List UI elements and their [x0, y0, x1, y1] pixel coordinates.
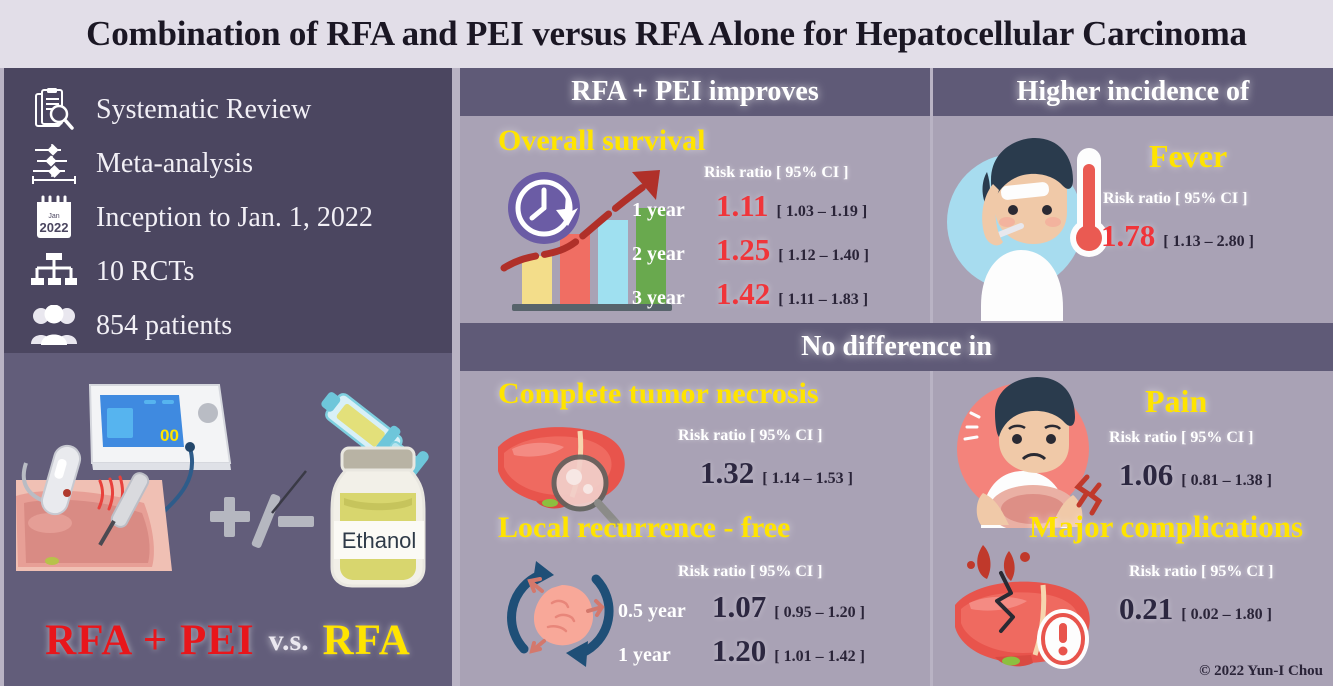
infographic-poster: Combination of RFA and PEI versus RFA Al…	[0, 0, 1333, 686]
row-label: 3 year	[632, 287, 708, 310]
treatment-illustration-panel: 00	[4, 353, 452, 686]
result-row: 1.06 [ 0.81 – 1.38 ]	[1119, 457, 1272, 493]
fact-row-meta-analysis: Meta-analysis	[26, 138, 452, 190]
fever-heading: Fever	[1149, 138, 1227, 175]
row-label: 2 year	[632, 243, 708, 266]
fact-row-search-period: Jan 2022 Inception to Jan. 1, 2022	[26, 192, 452, 244]
vial-label-text: Ethanol	[342, 528, 417, 553]
row-value: 1.06	[1119, 457, 1173, 493]
band-rfa-pei-improves: RFA + PEI improves	[460, 68, 930, 116]
row-ci: [ 0.02 – 1.80 ]	[1181, 606, 1272, 624]
row-value: 1.11	[716, 188, 769, 224]
bleeding-liver-icon	[943, 539, 1103, 684]
comparison-caption: RFA + PEI v.s. RFA	[4, 603, 452, 678]
plus-minus-symbol	[210, 493, 314, 549]
comparison-treatment-label: RFA + PEI	[45, 616, 255, 665]
recurrence-cycle-icon	[496, 553, 626, 683]
row-ci: [ 1.11 – 1.83 ]	[778, 291, 868, 309]
study-facts-panel: Systematic Review	[4, 68, 452, 353]
forest-plot-icon	[26, 140, 82, 188]
band-label: Higher incidence of	[933, 76, 1333, 108]
people-icon	[26, 302, 82, 350]
row-value: 1.32	[700, 455, 754, 491]
calendar-month-text: Jan	[48, 213, 59, 220]
rr-header: Risk ratio [ 95% CI ]	[678, 427, 822, 445]
row-value: 1.78	[1101, 218, 1155, 254]
result-row: 2 year 1.25 [ 1.12 – 1.40 ]	[632, 232, 869, 268]
pain-heading: Pain	[1145, 383, 1207, 420]
row-value: 1.20	[712, 633, 766, 669]
left-column: Systematic Review	[0, 68, 456, 686]
band-higher-incidence: Higher incidence of	[930, 68, 1333, 116]
ethanol-vial-icon: Ethanol	[332, 448, 424, 586]
calendar-icon: Jan 2022	[26, 194, 82, 242]
local-recurrence-free-heading: Local recurrence - free	[498, 511, 790, 545]
fact-row-patients: 854 patients	[26, 300, 452, 352]
right-column: RFA + PEI improves Higher incidence of O…	[460, 68, 1333, 686]
overall-survival-panel: Overall survival	[460, 116, 930, 323]
no-difference-left-column: Complete tumor necrosis	[460, 371, 930, 686]
fact-label: 10 RCTs	[96, 256, 194, 288]
row-ci: [ 1.12 – 1.40 ]	[778, 247, 869, 265]
result-row: 1.78 [ 1.13 – 2.80 ]	[1101, 218, 1254, 254]
clipboard-search-icon	[26, 86, 82, 134]
row-ci: [ 1.13 – 2.80 ]	[1163, 233, 1254, 251]
row-value: 1.07	[712, 589, 766, 625]
comparison-versus-label: v.s.	[269, 624, 309, 658]
overall-survival-heading: Overall survival	[498, 124, 705, 158]
fact-label: Meta-analysis	[96, 148, 253, 180]
result-row: 1 year 1.20 [ 1.01 – 1.42 ]	[618, 633, 865, 669]
row-ci: [ 0.95 – 1.20 ]	[774, 604, 865, 622]
rr-header: Risk ratio [ 95% CI ]	[678, 563, 822, 581]
fact-label: Inception to Jan. 1, 2022	[96, 202, 373, 234]
blood-splash-icon	[967, 545, 1030, 581]
top-section-body: Overall survival	[460, 116, 1333, 323]
fact-row-rcts: 10 RCTs	[26, 246, 452, 298]
calendar-year-text: 2022	[40, 220, 69, 235]
no-difference-right-column: Pain Risk ratio [ 95% CI ] 1.06 [ 0.81 –…	[930, 371, 1333, 686]
row-value: 1.25	[716, 232, 770, 268]
fever-panel: Fever Risk ratio [ 95% CI ] 1.78 [ 1.13 …	[930, 116, 1333, 323]
result-row: 0.21 [ 0.02 – 1.80 ]	[1119, 591, 1272, 627]
row-label: 0.5 year	[618, 600, 704, 623]
rr-header: Risk ratio [ 95% CI ]	[704, 164, 848, 182]
result-row: 3 year 1.42 [ 1.11 – 1.83 ]	[632, 276, 868, 312]
top-band-row: RFA + PEI improves Higher incidence of	[460, 68, 1333, 116]
result-row: 1 year 1.11 [ 1.03 – 1.19 ]	[632, 188, 867, 224]
copyright-text: © 2022 Yun-I Chou	[1199, 663, 1323, 680]
no-difference-section-body: Complete tumor necrosis	[460, 371, 1333, 686]
rfa-generator-icon: 00	[90, 385, 231, 470]
fact-row-systematic-review: Systematic Review	[26, 84, 452, 136]
row-ci: [ 1.03 – 1.19 ]	[777, 203, 868, 221]
rfa-pei-illustration: 00	[4, 353, 452, 603]
band-no-difference: No difference in	[460, 323, 1333, 371]
poster-title-bar: Combination of RFA and PEI versus RFA Al…	[0, 0, 1333, 68]
row-ci: [ 1.01 – 1.42 ]	[774, 648, 865, 666]
comparison-control-label: RFA	[323, 616, 411, 665]
band-label: RFA + PEI improves	[460, 76, 930, 108]
row-value: 1.42	[716, 276, 770, 312]
band-label: No difference in	[460, 331, 1333, 363]
fever-patient-icon	[943, 126, 1113, 326]
page-title: Combination of RFA and PEI versus RFA Al…	[86, 14, 1247, 54]
result-row: 0.5 year 1.07 [ 0.95 – 1.20 ]	[618, 589, 865, 625]
rr-header: Risk ratio [ 95% CI ]	[1103, 190, 1247, 208]
row-ci: [ 1.14 – 1.53 ]	[762, 470, 853, 488]
hierarchy-icon	[26, 248, 82, 296]
fact-label: 854 patients	[96, 310, 232, 342]
liver-probe-icon	[16, 480, 172, 571]
generator-display-value: 00	[160, 426, 179, 445]
rr-header: Risk ratio [ 95% CI ]	[1109, 429, 1253, 447]
rr-header: Risk ratio [ 95% CI ]	[1129, 563, 1273, 581]
complete-tumor-necrosis-heading: Complete tumor necrosis	[498, 377, 819, 411]
row-label: 1 year	[618, 644, 704, 667]
row-ci: [ 0.81 – 1.38 ]	[1181, 472, 1272, 490]
result-row: 1.32 [ 1.14 – 1.53 ]	[692, 455, 853, 491]
row-label: 1 year	[632, 199, 708, 222]
fact-label: Systematic Review	[96, 94, 311, 126]
warning-icon	[1037, 609, 1089, 669]
row-value: 0.21	[1119, 591, 1173, 627]
